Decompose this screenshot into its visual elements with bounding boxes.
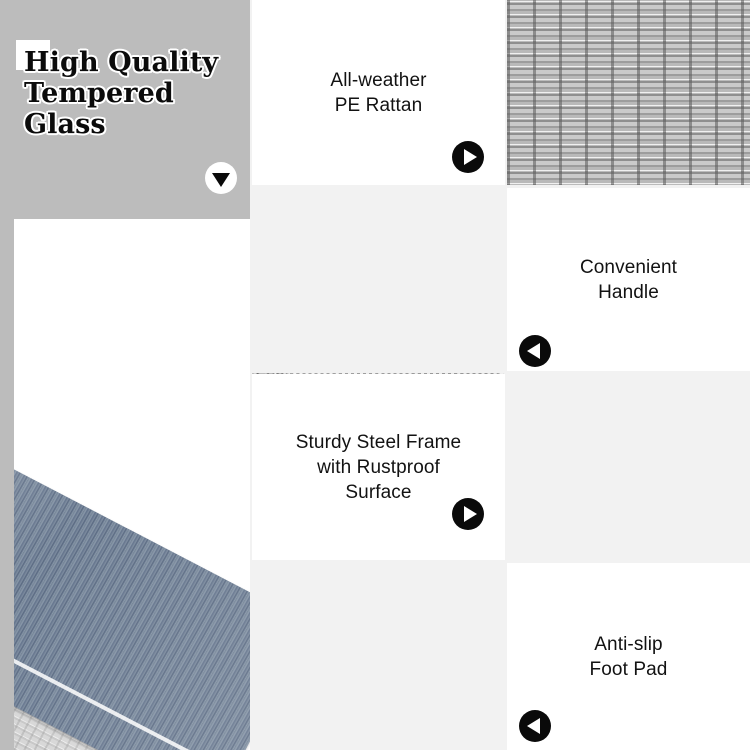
arrow-left-icon (527, 343, 540, 359)
infographic-canvas: High Quality Tempered Glass All-weather … (0, 0, 750, 750)
arrow-right-icon (464, 149, 477, 165)
pe-rattan-weave-texture (507, 0, 750, 185)
cell-pe-rattan-weave-photo (507, 0, 750, 185)
page-title-line-1: High Quality (24, 47, 239, 78)
cell-all-weather-pe-rattan: All-weather PE Rattan (252, 0, 505, 185)
text-line-2: Foot Pad (590, 657, 668, 682)
text-line-1: Sturdy Steel Frame (296, 430, 461, 455)
arrow-right-icon (464, 506, 477, 522)
cell-anti-slip-foot-pad-text: Anti-slip Foot Pad (580, 632, 678, 682)
page-title-line-2: Tempered (24, 78, 239, 109)
text-line-1: All-weather (330, 68, 426, 93)
cell-anti-slip-foot-pad: Anti-slip Foot Pad (507, 563, 750, 750)
prev-badge-foot-pad[interactable] (519, 710, 551, 742)
cell-convenient-handle-text: Convenient Handle (570, 255, 687, 305)
cell-sturdy-steel-frame: Sturdy Steel Frame with Rustproof Surfac… (252, 374, 505, 560)
cell-convenient-handle: Convenient Handle (507, 188, 750, 371)
text-line-2: PE Rattan (330, 93, 426, 118)
left-feature-panel: High Quality Tempered Glass (0, 0, 250, 750)
page-title-line-3: Glass (24, 109, 239, 140)
tempered-glass-table-photo (14, 219, 250, 750)
next-badge-pe-rattan[interactable] (452, 141, 484, 173)
page-title: High Quality Tempered Glass (24, 47, 239, 140)
text-line-1: Convenient (580, 255, 677, 280)
text-line-2: with Rustproof (296, 455, 461, 480)
cell-sturdy-steel-frame-text: Sturdy Steel Frame with Rustproof Surfac… (286, 430, 471, 505)
cell-all-weather-pe-rattan-text: All-weather PE Rattan (320, 68, 436, 118)
prev-badge-handle[interactable] (519, 335, 551, 367)
arrow-down-icon (212, 173, 230, 187)
arrow-left-icon (527, 718, 540, 734)
scroll-down-badge[interactable] (205, 162, 237, 194)
text-line-2: Handle (580, 280, 677, 305)
next-badge-steel-frame[interactable] (452, 498, 484, 530)
text-line-3: Surface (296, 480, 461, 505)
text-line-1: Anti-slip (590, 632, 668, 657)
